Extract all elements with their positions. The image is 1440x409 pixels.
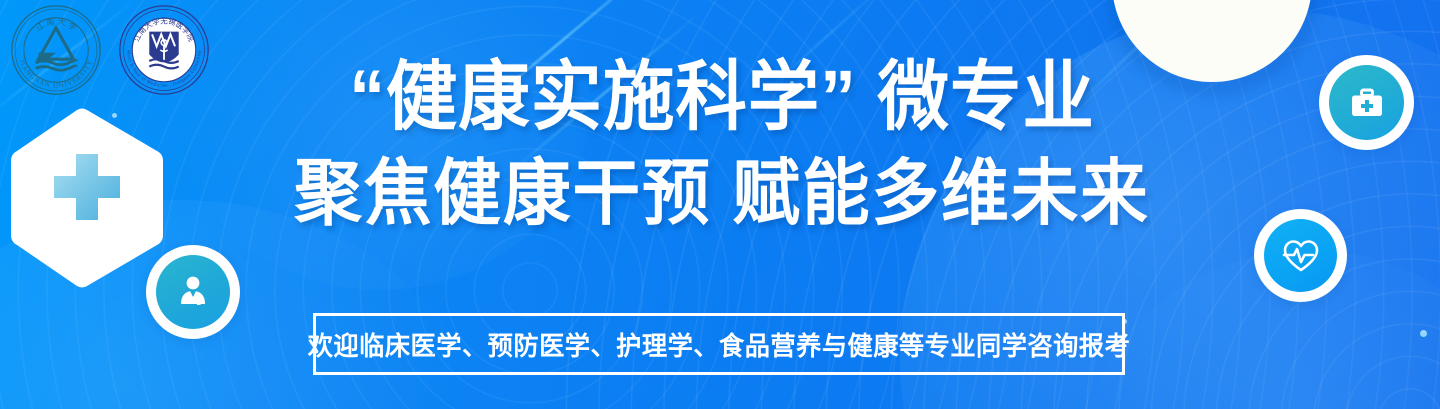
heart-pulse-badge-icon [1254,209,1347,302]
medical-kit-badge-icon [1319,55,1414,150]
accent-dot [1420,330,1427,337]
enrollment-callout-text: 欢迎临床医学、预防医学、护理学、食品营养与健康等专业同学咨询报考 [308,326,1131,363]
headline-block: “健康实施科学” 微专业 聚焦健康干预 赋能多维未来 [242,52,1202,238]
jiangnan-university-logo: 江 南 大 学 JIANGNAN UNIVERSITY [10,4,102,96]
hexagon-medical-cross-icon [8,108,166,288]
enrollment-callout-box: 欢迎临床医学、预防医学、护理学、食品营养与健康等专业同学咨询报考 [313,313,1125,375]
heart-pulse-icon [1280,235,1322,277]
medical-kit-icon [1347,83,1387,123]
promo-banner: 江 南 大 学 JIANGNAN UNIVERSITY 江南大学无锡医学院 [0,0,1440,409]
wuxi-school-of-medicine-logo: 江南大学无锡医学院 Wuxi School of Medicine , Jian… [118,4,210,96]
headline-line-2: 聚焦健康干预 赋能多维未来 [271,150,1173,238]
institution-logos: 江 南 大 学 JIANGNAN UNIVERSITY 江南大学无锡医学院 [10,4,210,96]
doctor-icon [173,272,213,312]
doctor-badge-icon [146,245,240,339]
headline-line-1: “健康实施科学” 微专业 [271,52,1173,144]
